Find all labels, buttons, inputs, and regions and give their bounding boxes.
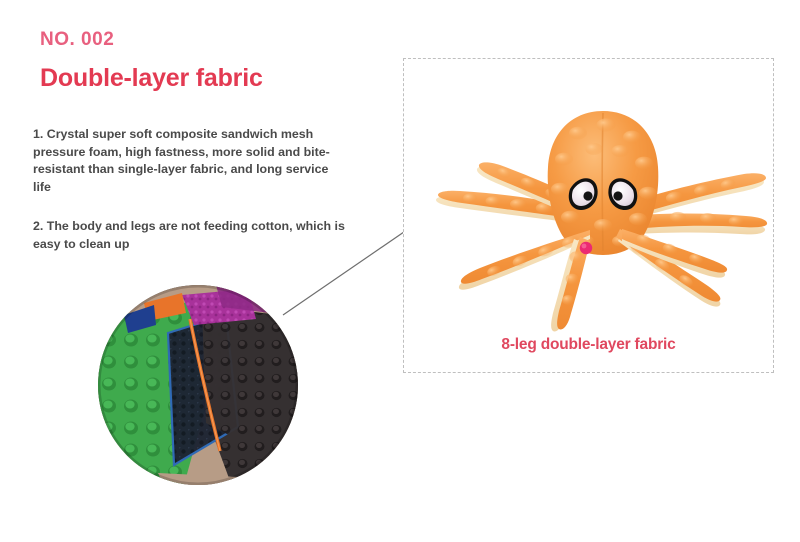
- fabric-closeup-circle: [98, 285, 298, 485]
- feature-paragraph-1: 1. Crystal super soft composite sandwich…: [33, 126, 345, 196]
- center-tag-dot: [580, 242, 592, 254]
- product-caption: 8-leg double-layer fabric: [404, 336, 773, 354]
- section-number-label: NO. 002: [40, 29, 114, 51]
- infographic-page: NO. 002 Double-layer fabric 1. Crystal s…: [0, 0, 800, 542]
- octopus-plush-illustration: [398, 93, 782, 333]
- product-showcase-frame: 8-leg double-layer fabric: [403, 58, 774, 373]
- feature-paragraph-2: 2. The body and legs are not feeding cot…: [33, 218, 345, 253]
- page-title: Double-layer fabric: [40, 64, 263, 93]
